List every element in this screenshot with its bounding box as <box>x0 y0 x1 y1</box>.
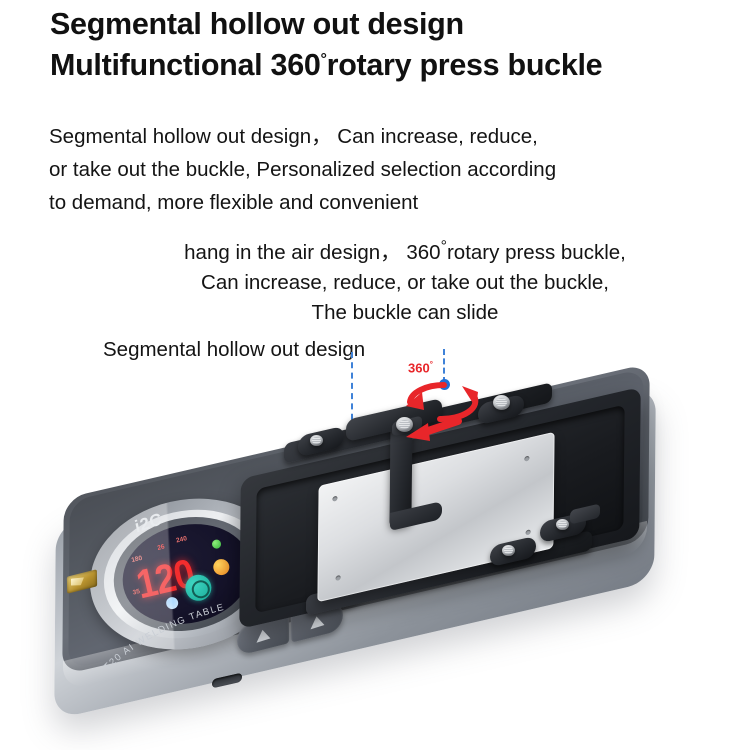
thumbscrew-rotating[interactable] <box>493 395 510 410</box>
thumbscrew-center-bottom[interactable] <box>502 545 515 556</box>
triangle-up-icon-left <box>256 627 271 642</box>
headline-line-2-pre: Multifunctional 360 <box>50 48 321 82</box>
paragraph-center-line-1-pre: hang in the air design， 360 <box>184 241 440 264</box>
welding-table-device: 180 26 240 35 120 i2C T20 AI WELDING TAB… <box>55 395 700 715</box>
plate-hole <box>524 456 529 462</box>
paragraph-left-line-1: Segmental hollow out design， Can increas… <box>49 120 729 153</box>
thumbscrew-left[interactable] <box>310 435 323 446</box>
screen-icon-green[interactable] <box>211 539 222 550</box>
paragraph-center-line-3: The buckle can slide <box>110 298 700 328</box>
plate-hole <box>332 496 337 502</box>
slide-direction-arrow-icon <box>398 413 464 447</box>
triangle-up-icon-right <box>310 614 325 629</box>
paragraph-left-line-2: or take out the buckle, Personalized sel… <box>49 153 729 186</box>
product-marketing-page: Segmental hollow out design Multifunctio… <box>0 0 750 750</box>
screen-label-240: 240 <box>176 535 188 544</box>
plate-hole <box>336 575 341 581</box>
thumbscrew-right-bottom[interactable] <box>556 519 569 530</box>
screen-icon-orange[interactable] <box>212 558 231 577</box>
headline-line-2: Multifunctional 360°rotary press buckle <box>50 45 720 86</box>
plate-hole <box>526 529 531 535</box>
paragraph-left-line-3: to demand, more flexible and convenient <box>49 186 729 219</box>
paragraph-center-line-1-post: rotary press buckle, <box>447 241 626 264</box>
paragraph-center-line-2: Can increase, reduce, or take out the bu… <box>110 268 700 298</box>
screen-label-26: 26 <box>157 543 166 551</box>
page-title: Segmental hollow out design Multifunctio… <box>50 4 720 86</box>
rotation-degree-symbol: ° <box>430 360 433 369</box>
headline-line-1: Segmental hollow out design <box>50 4 720 45</box>
paragraph-center-line-1: hang in the air design， 360°rotary press… <box>110 238 700 268</box>
description-paragraph-center: hang in the air design， 360°rotary press… <box>110 238 700 328</box>
headline-line-2-post: rotary press buckle <box>327 48 603 82</box>
description-paragraph-left: Segmental hollow out design， Can increas… <box>49 120 729 219</box>
callout-label-segmental: Segmental hollow out design <box>103 338 365 362</box>
